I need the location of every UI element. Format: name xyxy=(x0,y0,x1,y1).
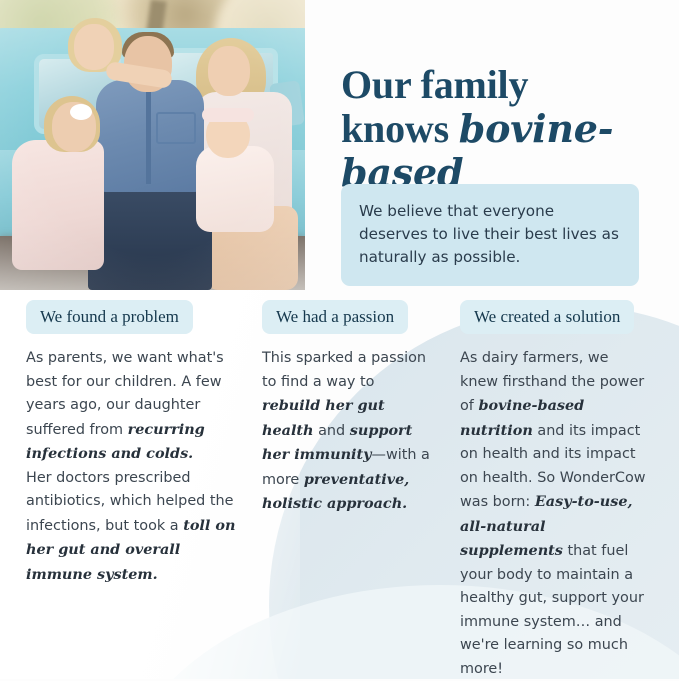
hero-section: Our family knows bovine- based nutrition… xyxy=(0,0,679,292)
story-column-passion: We had a passion This sparked a passion … xyxy=(262,300,434,517)
belief-callout-text: We believe that everyone deserves to liv… xyxy=(359,202,619,266)
belief-callout: We believe that everyone deserves to liv… xyxy=(341,184,639,286)
story-column-problem: We found a problem As parents, we want w… xyxy=(26,300,242,587)
plain-text: and xyxy=(314,423,350,439)
column-heading-passion: We had a passion xyxy=(262,300,408,334)
story-column-solution: We created a solution As dairy farmers, … xyxy=(460,300,650,681)
paragraph: As parents, we want what's best for our … xyxy=(26,347,242,467)
plain-text: This sparked a passion to find a way to xyxy=(262,350,426,390)
family-photo xyxy=(0,0,305,290)
story-columns: We found a problem As parents, we want w… xyxy=(0,300,679,679)
headline-line-2-plain: knows xyxy=(341,106,459,151)
plain-text: that fuel your body to maintain a health… xyxy=(460,543,644,677)
paragraph: This sparked a passion to find a way to … xyxy=(262,347,434,517)
column-body-passion: This sparked a passion to find a way to … xyxy=(262,347,434,517)
paragraph: As dairy farmers, we knew firsthand the … xyxy=(460,347,650,681)
column-body-problem: As parents, we want what's best for our … xyxy=(26,347,242,587)
column-body-solution: As dairy farmers, we knew firsthand the … xyxy=(460,347,650,681)
paragraph: Her doctors prescribed antibiotics, whic… xyxy=(26,467,242,588)
column-heading-solution: We created a solution xyxy=(460,300,634,334)
headline-line-1: Our family xyxy=(341,62,528,107)
column-heading-problem: We found a problem xyxy=(26,300,193,334)
headline-line-2-emphasis: bovine- xyxy=(459,106,614,151)
photo-vignette xyxy=(0,0,305,290)
